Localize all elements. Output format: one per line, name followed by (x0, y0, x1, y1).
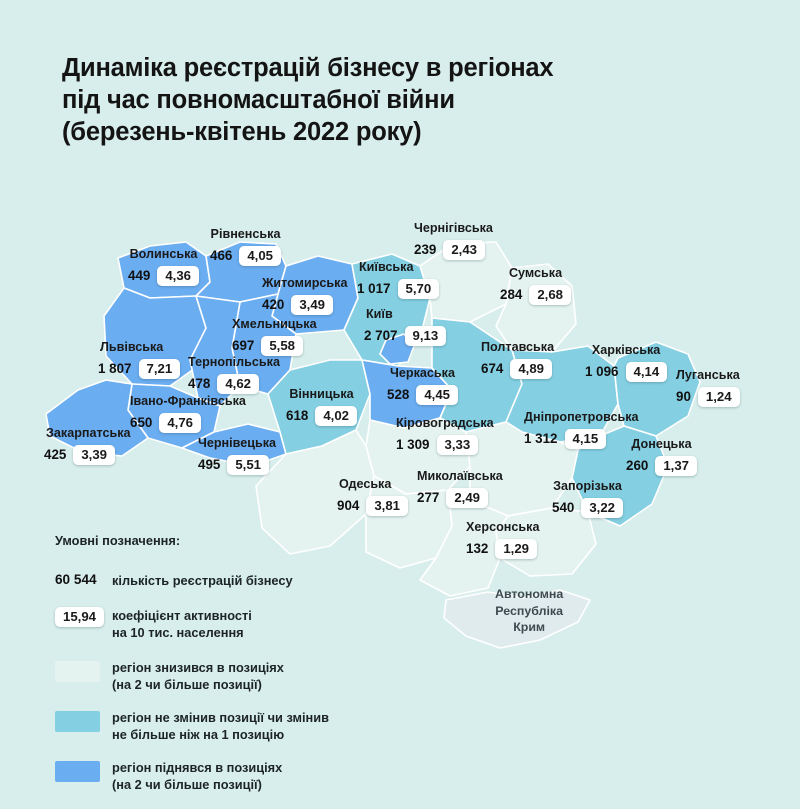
legend-swatch-down (55, 661, 100, 682)
rate-pill: 4,15 (565, 429, 607, 449)
region-label-sumy: Сумська 2842,68 (500, 267, 571, 305)
rate-pill: 4,62 (217, 374, 259, 394)
rate-pill: 3,39 (73, 445, 115, 465)
registrations-value: 1 309 (396, 438, 430, 451)
region-label-khmelnytskyi: Хмельницька 6975,58 (232, 318, 317, 356)
region-label-kherson: Херсонська 1321,29 (466, 521, 539, 559)
legend-rate-pill: 15,94 (55, 607, 104, 627)
region-label-zakarpattia: Закарпатська 4253,39 (44, 427, 131, 465)
rate-pill: 5,51 (227, 455, 269, 475)
rate-pill: 3,49 (291, 295, 333, 315)
registrations-value: 425 (44, 448, 66, 461)
registrations-value: 466 (210, 249, 232, 262)
page-title: Динаміка реєстрацій бізнесу в регіонах п… (62, 52, 682, 148)
registrations-value: 540 (552, 501, 574, 514)
region-label-donetsk: Донецька 2601,37 (626, 438, 697, 476)
infographic-canvas: Динаміка реєстрацій бізнесу в регіонах п… (0, 0, 800, 800)
region-label-dnipro: Дніпропетровська 1 3124,15 (524, 411, 639, 449)
rate-pill: 5,70 (398, 279, 440, 299)
rate-pill: 4,89 (510, 359, 552, 379)
rate-pill: 1,24 (698, 387, 740, 407)
region-label-cherkasy: Черкаська 5284,45 (387, 367, 458, 405)
legend-row-count: 60 544 кількість реєстрацій бізнесу (55, 572, 385, 589)
region-label-kirovohrad: Кіровоградська 1 3093,33 (396, 417, 494, 455)
region-label-lviv: Львівська 1 8077,21 (98, 341, 180, 379)
region-label-vinnytsia: Вінницька 6184,02 (286, 388, 357, 426)
region-label-zaporizhzhia: Запорізька 5403,22 (552, 480, 623, 518)
legend-label-up: регіон піднявся в позиціях (на 2 чи біль… (112, 759, 282, 793)
registrations-value: 2 707 (364, 329, 398, 342)
registrations-value: 239 (414, 243, 436, 256)
rate-pill: 4,05 (239, 246, 281, 266)
registrations-value: 650 (130, 416, 152, 429)
rate-pill: 3,33 (437, 435, 479, 455)
rate-pill: 5,58 (261, 336, 303, 356)
registrations-value: 449 (128, 269, 150, 282)
rate-pill: 4,76 (159, 413, 201, 433)
legend-row-rate: 15,94 коефіцієнт активності на 10 тис. н… (55, 607, 385, 641)
region-label-luhansk: Луганська 901,24 (676, 369, 740, 407)
rate-pill: 4,45 (416, 385, 458, 405)
rate-pill: 2,43 (443, 240, 485, 260)
region-label-ternopil: Тернопільська 4784,62 (188, 356, 280, 394)
rate-pill: 7,21 (139, 359, 181, 379)
region-label-kyiv-city: Київ 2 7079,13 (364, 308, 446, 346)
rate-pill: 1,29 (495, 539, 537, 559)
registrations-value: 697 (232, 339, 254, 352)
legend-swatch-down-key (55, 659, 112, 682)
region-label-poltava: Полтавська 6744,89 (481, 341, 554, 379)
rate-pill: 9,13 (405, 326, 447, 346)
registrations-value: 495 (198, 458, 220, 471)
legend-row-down: регіон знизився в позиціях (на 2 чи біль… (55, 659, 385, 693)
region-label-rivne: Рівненська 4664,05 (210, 228, 281, 266)
registrations-value: 618 (286, 409, 308, 422)
rate-pill: 4,02 (315, 406, 357, 426)
registrations-value: 1 312 (524, 432, 558, 445)
legend-count-example: 60 544 (55, 572, 97, 587)
legend-count-example-key: 60 544 (55, 572, 112, 587)
region-label-volyn: Волинська 4494,36 (128, 248, 199, 286)
legend-label-same: регіон не змінив позиції чи змінив не бі… (112, 709, 329, 743)
region-label-chernihiv: Чернігівська 2392,43 (414, 222, 493, 260)
legend-heading: Умовні позначення: (55, 533, 385, 548)
region-label-kharkiv: Харківська 1 0964,14 (585, 344, 667, 382)
registrations-value: 904 (337, 499, 359, 512)
region-label-zhytomyr: Житомирська 4203,49 (262, 277, 347, 315)
region-label-odesa: Одеська 9043,81 (337, 478, 408, 516)
region-label-chernivtsi: Чернівецька 4955,51 (198, 437, 276, 475)
rate-pill: 4,14 (626, 362, 668, 382)
legend-swatch-same (55, 711, 100, 732)
registrations-value: 1 807 (98, 362, 132, 375)
registrations-value: 1 096 (585, 365, 619, 378)
registrations-value: 284 (500, 288, 522, 301)
registrations-value: 478 (188, 377, 210, 390)
rate-pill: 2,68 (529, 285, 571, 305)
registrations-value: 260 (626, 459, 648, 472)
rate-pill: 3,81 (366, 496, 408, 516)
legend-row-same: регіон не змінив позиції чи змінив не бі… (55, 709, 385, 743)
legend-rate-example-key: 15,94 (55, 607, 112, 627)
region-label-ivano-frankivsk: Івано-Франківська 6504,76 (130, 395, 246, 433)
legend-swatch-same-key (55, 709, 112, 732)
registrations-value: 90 (676, 390, 691, 403)
registrations-value: 277 (417, 491, 439, 504)
registrations-value: 420 (262, 298, 284, 311)
rate-pill: 4,36 (157, 266, 199, 286)
legend-row-up: регіон піднявся в позиціях (на 2 чи біль… (55, 759, 385, 793)
registrations-value: 674 (481, 362, 503, 375)
registrations-value: 1 017 (357, 282, 391, 295)
region-label-mykolaiv: Миколаївська 2772,49 (417, 470, 503, 508)
rate-pill: 2,49 (446, 488, 488, 508)
legend-count-label: кількість реєстрацій бізнесу (112, 572, 293, 589)
registrations-value: 528 (387, 388, 409, 401)
registrations-value: 132 (466, 542, 488, 555)
legend: Умовні позначення: 60 544 кількість реєс… (55, 533, 385, 809)
legend-swatch-up-key (55, 759, 112, 782)
legend-label-down: регіон знизився в позиціях (на 2 чи біль… (112, 659, 284, 693)
region-label-kyiv-oblast: Київська 1 0175,70 (357, 261, 439, 299)
rate-pill: 1,37 (655, 456, 697, 476)
legend-swatch-up (55, 761, 100, 782)
legend-rate-label: коефіцієнт активності на 10 тис. населен… (112, 607, 252, 641)
crimea-label: Автономна Республіка Крим (495, 586, 563, 636)
rate-pill: 3,22 (581, 498, 623, 518)
